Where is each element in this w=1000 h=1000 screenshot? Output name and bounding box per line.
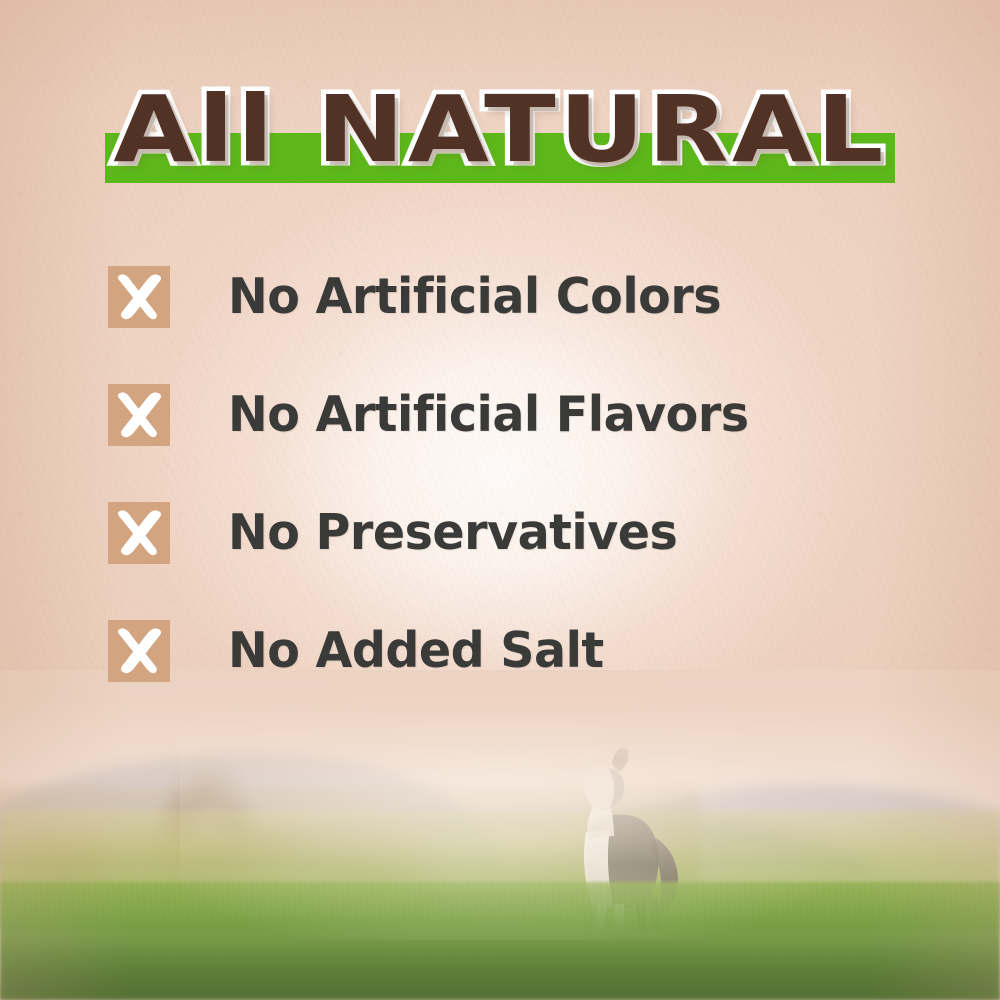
list-item: No Artificial Colors <box>108 266 928 328</box>
list-item: No Preservatives <box>108 502 928 564</box>
list-item: No Added Salt <box>108 620 928 682</box>
list-item-label: No Preservatives <box>228 502 677 564</box>
all-natural-poster: All NATURAL No Artificial Colors No Arti… <box>0 0 1000 1000</box>
x-mark-icon <box>108 384 170 446</box>
x-mark-icon <box>108 266 170 328</box>
benefits-checklist: No Artificial Colors No Artificial Flavo… <box>108 266 928 738</box>
list-item-label: No Added Salt <box>228 620 604 682</box>
list-item: No Artificial Flavors <box>108 384 928 446</box>
list-item-label: No Artificial Colors <box>228 266 721 328</box>
x-mark-icon <box>108 502 170 564</box>
page-title: All NATURAL <box>0 78 1000 182</box>
title-block: All NATURAL <box>0 78 1000 196</box>
x-mark-icon <box>108 620 170 682</box>
list-item-label: No Artificial Flavors <box>228 384 749 446</box>
